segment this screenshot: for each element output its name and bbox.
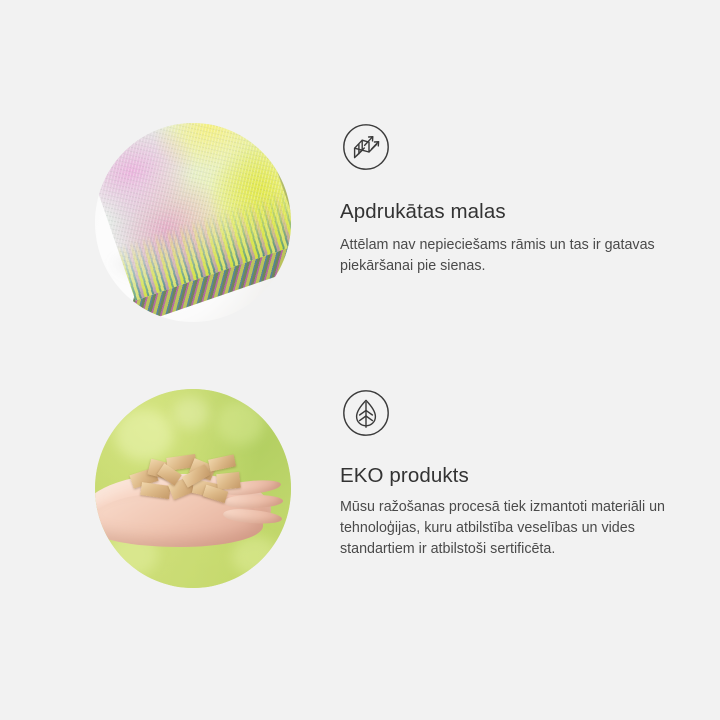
printed-edges-copy: Apdrukātas malas Attēlam nav nepieciešam… <box>340 123 680 277</box>
wood-chips-pile <box>128 455 258 508</box>
eco-wood-chips-photo <box>95 389 291 588</box>
feature-panel: Apdrukātas malas Attēlam nav nepieciešam… <box>0 0 720 720</box>
leaf-icon <box>342 389 390 437</box>
cupped-hands <box>95 461 287 557</box>
bokeh-highlight <box>173 397 208 429</box>
bokeh-highlight <box>115 409 174 461</box>
feature-description: Mūsu ražošanas procesā tiek izmantoti ma… <box>340 497 670 560</box>
canvas-photo-scene <box>95 123 291 322</box>
printed-canvas-corner-photo <box>95 123 291 322</box>
wood-chip <box>140 482 170 499</box>
canvas-corner-block <box>95 123 291 322</box>
feature-title: EKO produkts <box>340 464 680 488</box>
feature-description: Attēlam nav nepieciešams rāmis un tas ir… <box>340 235 670 277</box>
bokeh-highlight <box>217 401 264 445</box>
finger <box>223 507 283 525</box>
wood-chip <box>216 472 241 490</box>
eco-photo-scene <box>95 389 291 588</box>
feature-title: Apdrukātas malas <box>340 200 680 224</box>
wood-chip <box>208 454 236 471</box>
eco-product-copy: EKO produkts Mūsu ražošanas procesā tiek… <box>340 389 680 560</box>
printed-edges-icon <box>342 123 390 171</box>
